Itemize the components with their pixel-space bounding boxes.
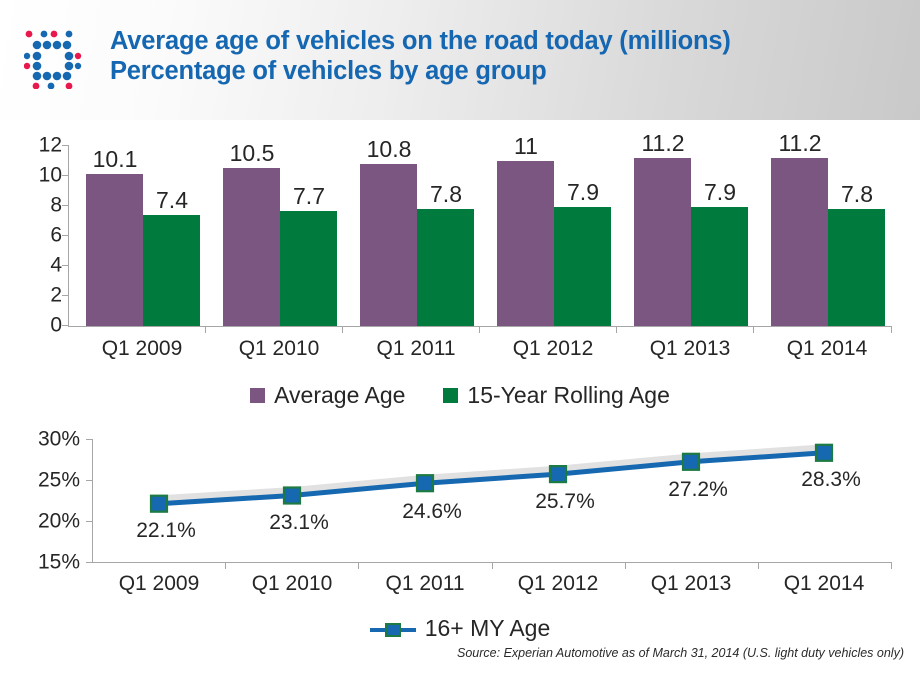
bar-value-label: 7.8	[841, 181, 873, 208]
bar-xtick-label: Q1 2012	[513, 337, 594, 361]
page-title: Average age of vehicles on the road toda…	[110, 26, 731, 86]
legend-item-average-age[interactable]: Average Age	[250, 382, 405, 409]
bar-value-label: 7.4	[156, 187, 188, 214]
legend-item-16plus-my-age[interactable]: 16+ MY Age	[370, 615, 551, 642]
bar-x-tick	[479, 326, 480, 333]
line-marker	[151, 496, 167, 512]
line-marker	[417, 475, 433, 491]
bar-value-label: 7.9	[704, 179, 736, 206]
bar-xtick-label: Q1 2014	[787, 337, 868, 361]
line-value-label: 27.2%	[668, 478, 728, 502]
bar-rolling-age	[417, 209, 474, 326]
bar-value-label: 7.9	[567, 179, 599, 206]
legend-label: Average Age	[274, 382, 405, 409]
line-xtick-label: Q1 2010	[252, 572, 333, 596]
bar-x-tick	[753, 326, 754, 333]
bar-ytick-label: 8	[50, 195, 62, 216]
bar-x-tick	[891, 326, 892, 333]
bar-ytick-label: 12	[39, 135, 62, 156]
average-age-bar-chart: 12 10 8 6 4 2 0 10.1 7.4 10.5 7.7 10.8 7…	[0, 126, 920, 376]
legend-label: 15-Year Rolling Age	[467, 382, 669, 409]
line-marker	[816, 445, 832, 461]
bar-average-age	[634, 158, 691, 326]
bar-value-label: 10.5	[230, 140, 275, 167]
bar-average-age	[223, 168, 280, 326]
bar-x-tick	[342, 326, 343, 333]
bar-y-axis	[68, 145, 69, 326]
line-value-label: 23.1%	[269, 511, 329, 535]
bar-x-tick	[205, 326, 206, 333]
bar-y-tick	[62, 175, 68, 176]
bar-rolling-age	[828, 209, 885, 326]
line-chart-legend: 16+ MY Age	[0, 615, 920, 642]
bar-rolling-age	[143, 215, 200, 326]
line-xtick-label: Q1 2013	[651, 572, 732, 596]
bar-rolling-age	[691, 207, 748, 326]
bar-xtick-label: Q1 2011	[376, 337, 455, 361]
line-value-label: 25.7%	[535, 490, 595, 514]
line-xtick-label: Q1 2011	[385, 572, 464, 596]
bar-average-age	[497, 161, 554, 326]
line-marker	[683, 454, 699, 470]
bar-y-tick	[62, 205, 68, 206]
line-xtick-label: Q1 2014	[784, 572, 865, 596]
line-marker	[284, 488, 300, 504]
title-line-1: Average age of vehicles on the road toda…	[110, 26, 731, 56]
bar-ytick-label: 10	[39, 165, 62, 186]
bar-value-label: 7.7	[293, 183, 325, 210]
legend-label: 16+ MY Age	[425, 615, 551, 642]
bar-y-tick	[62, 295, 68, 296]
bar-y-tick	[62, 235, 68, 236]
legend-line-marker-icon	[370, 621, 416, 637]
line-value-label: 28.3%	[801, 468, 861, 492]
bar-ytick-label: 6	[50, 225, 62, 246]
bar-average-age	[360, 164, 417, 326]
bar-value-label: 11.2	[778, 130, 821, 157]
bar-y-tick	[62, 265, 68, 266]
title-line-2: Percentage of vehicles by age group	[110, 56, 731, 86]
bar-rolling-age	[280, 211, 337, 326]
bar-value-label: 7.8	[430, 181, 462, 208]
bar-chart-legend: Average Age 15-Year Rolling Age	[0, 382, 920, 409]
bar-ytick-label: 2	[50, 285, 62, 306]
line-marker	[550, 466, 566, 482]
bar-x-axis	[68, 326, 892, 327]
experian-dot-logo-icon	[24, 29, 82, 89]
bar-average-age	[86, 174, 143, 326]
bar-value-label: 10.8	[367, 136, 412, 163]
legend-swatch-green-icon	[443, 388, 458, 403]
bar-average-age	[771, 158, 828, 326]
bar-ytick-label: 0	[50, 315, 62, 336]
bar-xtick-label: Q1 2010	[239, 337, 320, 361]
bar-value-label: 11.2	[641, 130, 684, 157]
line-value-label: 24.6%	[402, 500, 462, 524]
line-value-label: 22.1%	[136, 519, 196, 543]
bar-value-label: 10.1	[93, 146, 138, 173]
bar-value-label: 11	[514, 133, 538, 160]
bar-y-tick	[62, 145, 68, 146]
slide-header: Average age of vehicles on the road toda…	[0, 0, 920, 120]
percentage-by-age-line-chart: 30% 25% 20% 15% 22.1% 23.1% 24.6% 25.7% …	[0, 424, 920, 609]
line-xtick-label: Q1 2009	[119, 572, 200, 596]
legend-swatch-purple-icon	[250, 388, 265, 403]
bar-x-tick	[616, 326, 617, 333]
bar-xtick-label: Q1 2013	[650, 337, 731, 361]
line-xtick-label: Q1 2012	[518, 572, 599, 596]
legend-item-rolling-age[interactable]: 15-Year Rolling Age	[443, 382, 669, 409]
bar-rolling-age	[554, 207, 611, 326]
bar-xtick-label: Q1 2009	[102, 337, 183, 361]
bar-ytick-label: 4	[50, 255, 62, 276]
source-note: Source: Experian Automotive as of March …	[457, 646, 904, 660]
